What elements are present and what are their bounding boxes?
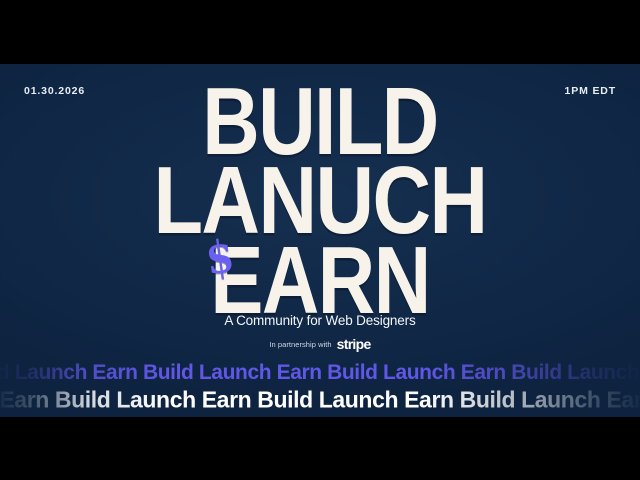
subtitle-block: A Community for Web Designers In partner… — [0, 313, 640, 352]
marquee-top-text: ild Launch Earn Build Launch Earn Build … — [0, 361, 640, 385]
event-meta-row: 01.30.2026 1PM EDT — [0, 85, 640, 97]
headline-line-earn: EARN — [0, 242, 640, 318]
marquee-bottom-text: Launch Earn Build Launch Earn Build Laun… — [0, 387, 640, 414]
partnership-row: In partnership with stripe — [0, 336, 640, 352]
marquee-block: ild Launch Earn Build Launch Earn Build … — [0, 360, 640, 414]
stripe-logo: stripe — [337, 336, 371, 352]
marquee-row-top: ild Launch Earn Build Launch Earn Build … — [0, 360, 640, 386]
video-frame: 01.30.2026 1PM EDT BUILD LANUCH EARN $ A… — [0, 0, 640, 480]
letterbox-bar-bottom — [0, 417, 640, 480]
promo-stage: 01.30.2026 1PM EDT BUILD LANUCH EARN $ A… — [0, 64, 640, 417]
marquee-row-bottom: Launch Earn Build Launch Earn Build Laun… — [0, 386, 640, 414]
event-time: 1PM EDT — [565, 85, 616, 97]
headline-block: BUILD LANUCH EARN — [0, 90, 640, 311]
partnership-label: In partnership with — [269, 340, 331, 349]
subtitle-text: A Community for Web Designers — [0, 313, 640, 328]
letterbox-bar-top — [0, 0, 640, 64]
event-date: 01.30.2026 — [24, 85, 85, 97]
